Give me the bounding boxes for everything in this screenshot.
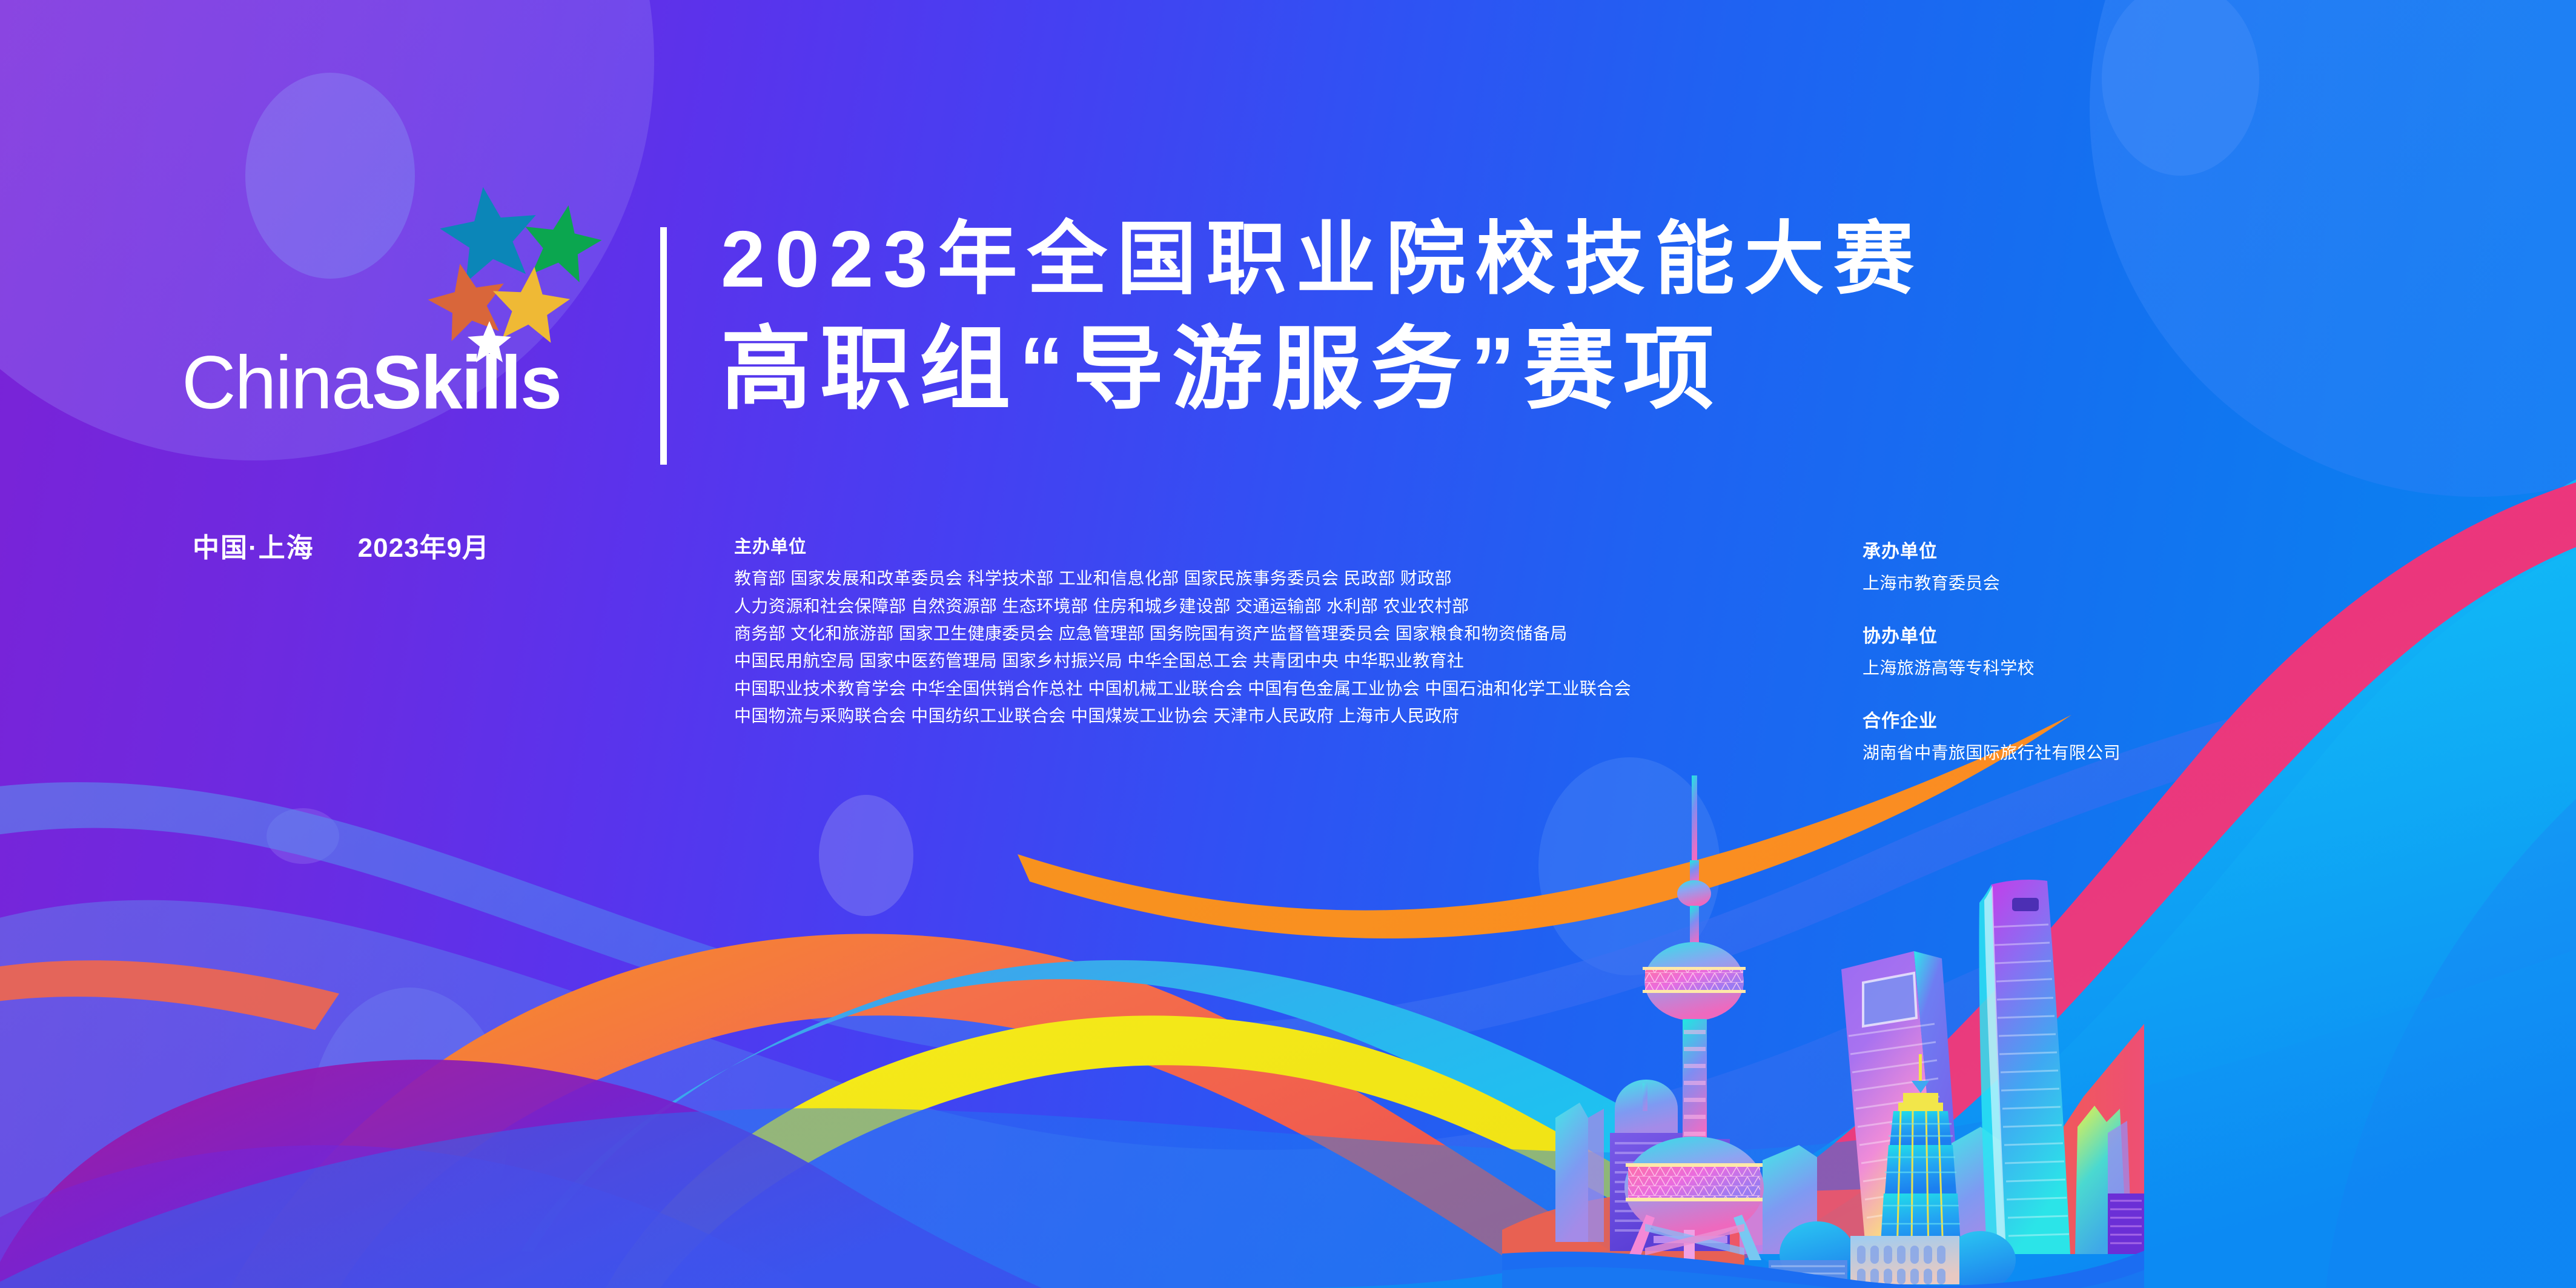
organizer-line: 中国物流与采购联合会 中国纺织工业联合会 中国煤炭工业协会 天津市人民政府 上海… bbox=[734, 702, 1873, 729]
oriental-pearl-tower bbox=[1624, 775, 1764, 1260]
organizer-line: 中国民用航空局 国家中医药管理局 国家乡村振兴局 中华全国总工会 共青团中央 中… bbox=[734, 647, 1873, 674]
star-icon bbox=[435, 182, 544, 285]
organizers-block: 主办单位 教育部 国家发展和改革委员会 科学技术部 工业和信息化部 国家民族事务… bbox=[734, 536, 1873, 729]
event-date: 2023年9月 bbox=[358, 533, 489, 563]
shanghai-tower bbox=[1979, 880, 2071, 1254]
brand-china: China bbox=[182, 341, 372, 425]
star-icon bbox=[488, 263, 573, 345]
organizer-line: 教育部 国家发展和改革委员会 科学技术部 工业和信息化部 国家民族事务委员会 民… bbox=[734, 565, 1873, 592]
supporting-unit-heading: 承办单位 bbox=[1862, 536, 2408, 563]
brand-wordmark: ChinaSkills bbox=[182, 345, 642, 420]
organizer-line: 中国职业技术教育学会 中华全国供销合作总社 中国机械工业联合会 中国有色金属工业… bbox=[734, 675, 1873, 702]
vertical-divider bbox=[660, 227, 667, 465]
supporting-unit-body: 上海市教育委员会 bbox=[1862, 570, 2408, 594]
event-meta: 中国·上海2023年9月 bbox=[193, 526, 489, 565]
brand-skills: Skills bbox=[372, 341, 561, 425]
supporting-unit-heading: 协办单位 bbox=[1862, 621, 2408, 648]
event-location: 中国·上海 bbox=[193, 533, 314, 563]
chinaskills-logo: ChinaSkills bbox=[182, 182, 642, 497]
title-line-1: 2023年全国职业院校技能大赛 bbox=[721, 212, 2477, 307]
supporting-units-block: 承办单位 上海市教育委员会 协办单位 上海旅游高等专科学校 合作企业 湖南省中青… bbox=[1862, 536, 2408, 764]
organizers-heading: 主办单位 bbox=[734, 536, 1873, 558]
star-icon bbox=[517, 199, 606, 285]
star-cluster-icon bbox=[418, 182, 612, 363]
supporting-unit-body: 湖南省中青旅国际旅行社有限公司 bbox=[1862, 740, 2408, 764]
title-line-2: 高职组“导游服务”赛项 bbox=[721, 314, 2477, 425]
supporting-unit: 承办单位 上海市教育委员会 bbox=[1862, 536, 2408, 594]
banner-poster: ChinaSkills 2023年全国职业院校技能大赛 高职组“导游服务”赛项 … bbox=[0, 0, 2576, 1288]
organizer-line: 人力资源和社会保障部 自然资源部 生态环境部 住房和城乡建设部 交通运输部 水利… bbox=[734, 593, 1873, 620]
supporting-unit-heading: 合作企业 bbox=[1862, 706, 2408, 732]
title-group: 2023年全国职业院校技能大赛 高职组“导游服务”赛项 bbox=[721, 212, 2477, 425]
supporting-unit: 协办单位 上海旅游高等专科学校 bbox=[1862, 621, 2408, 679]
supporting-unit-body: 上海旅游高等专科学校 bbox=[1862, 655, 2408, 679]
shanghai-skyline-illustration bbox=[1502, 769, 2144, 1288]
supporting-unit: 合作企业 湖南省中青旅国际旅行社有限公司 bbox=[1862, 706, 2408, 764]
organizer-line: 商务部 文化和旅游部 国家卫生健康委员会 应急管理部 国务院国有资产监督管理委员… bbox=[734, 620, 1873, 647]
